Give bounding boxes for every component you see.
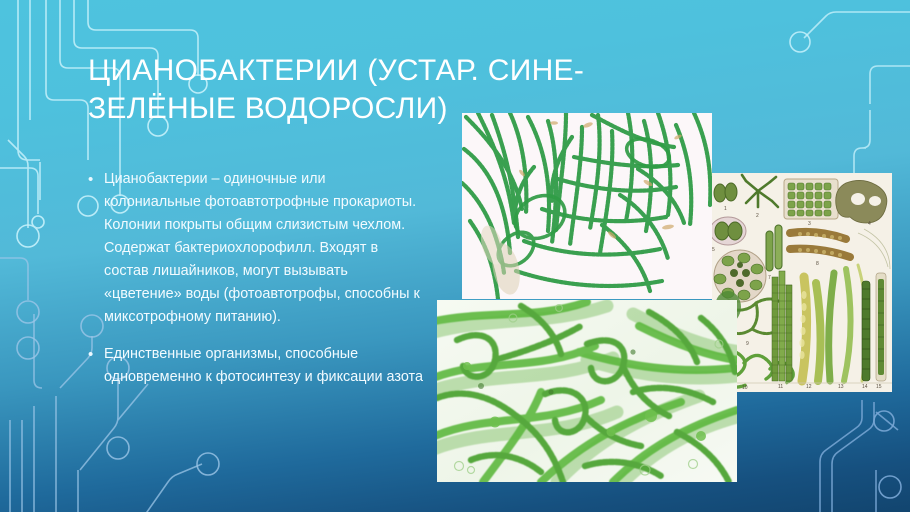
svg-text:7: 7 bbox=[768, 275, 771, 281]
svg-text:10: 10 bbox=[742, 385, 748, 391]
list-item: • Единственные организмы, способные одно… bbox=[86, 343, 426, 389]
svg-text:12: 12 bbox=[806, 384, 812, 390]
slide-canvas: Цианобактерии (устар. сине-зелёные водор… bbox=[0, 0, 910, 512]
image-cyanobacteria-filaments bbox=[462, 113, 712, 299]
svg-text:15: 15 bbox=[876, 384, 882, 390]
svg-text:11: 11 bbox=[778, 384, 783, 390]
svg-text:3: 3 bbox=[808, 221, 811, 227]
list-item: • Цианобактерии – одиночные или колониал… bbox=[86, 168, 426, 329]
bullet-marker-icon: • bbox=[86, 168, 104, 329]
svg-text:13: 13 bbox=[838, 384, 844, 390]
bullet-list: • Цианобактерии – одиночные или колониал… bbox=[86, 168, 426, 403]
image-cyanobacteria-chains bbox=[437, 300, 737, 482]
svg-text:14: 14 bbox=[862, 384, 868, 390]
bullet-marker-icon: • bbox=[86, 343, 104, 389]
bullet-text: Цианобактерии – одиночные или колониальн… bbox=[104, 168, 426, 329]
svg-text:2: 2 bbox=[756, 213, 759, 219]
svg-text:8: 8 bbox=[816, 261, 819, 267]
svg-text:1: 1 bbox=[724, 206, 727, 212]
svg-text:5: 5 bbox=[712, 247, 715, 253]
image-cyanobacteria-plate: 1 2 bbox=[712, 173, 892, 392]
svg-text:4: 4 bbox=[868, 221, 871, 227]
svg-text:9: 9 bbox=[746, 341, 749, 347]
bullet-text: Единственные организмы, способные одновр… bbox=[104, 343, 426, 389]
